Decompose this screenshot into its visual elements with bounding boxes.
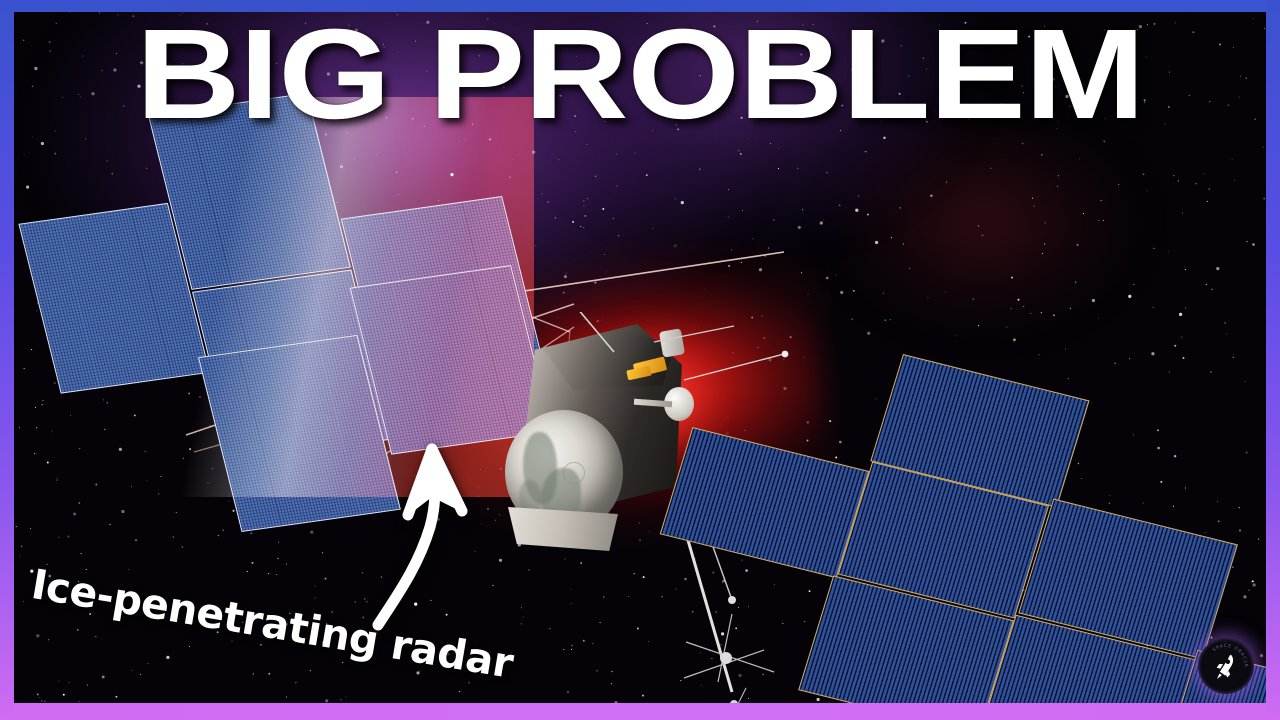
frame-border-bottom	[0, 703, 1280, 720]
video-thumbnail: BIG PROBLEM Ice-penetrating radar SPACE …	[0, 0, 1280, 720]
page-title: BIG PROBLEM	[0, 12, 1280, 137]
solar-panel-cell	[660, 427, 870, 578]
rocket-icon	[1207, 647, 1245, 685]
annotation-arrow-icon	[370, 425, 560, 635]
channel-logo-badge[interactable]: SPACE ORACLE	[1198, 638, 1254, 694]
right-solar-array	[704, 362, 1266, 703]
